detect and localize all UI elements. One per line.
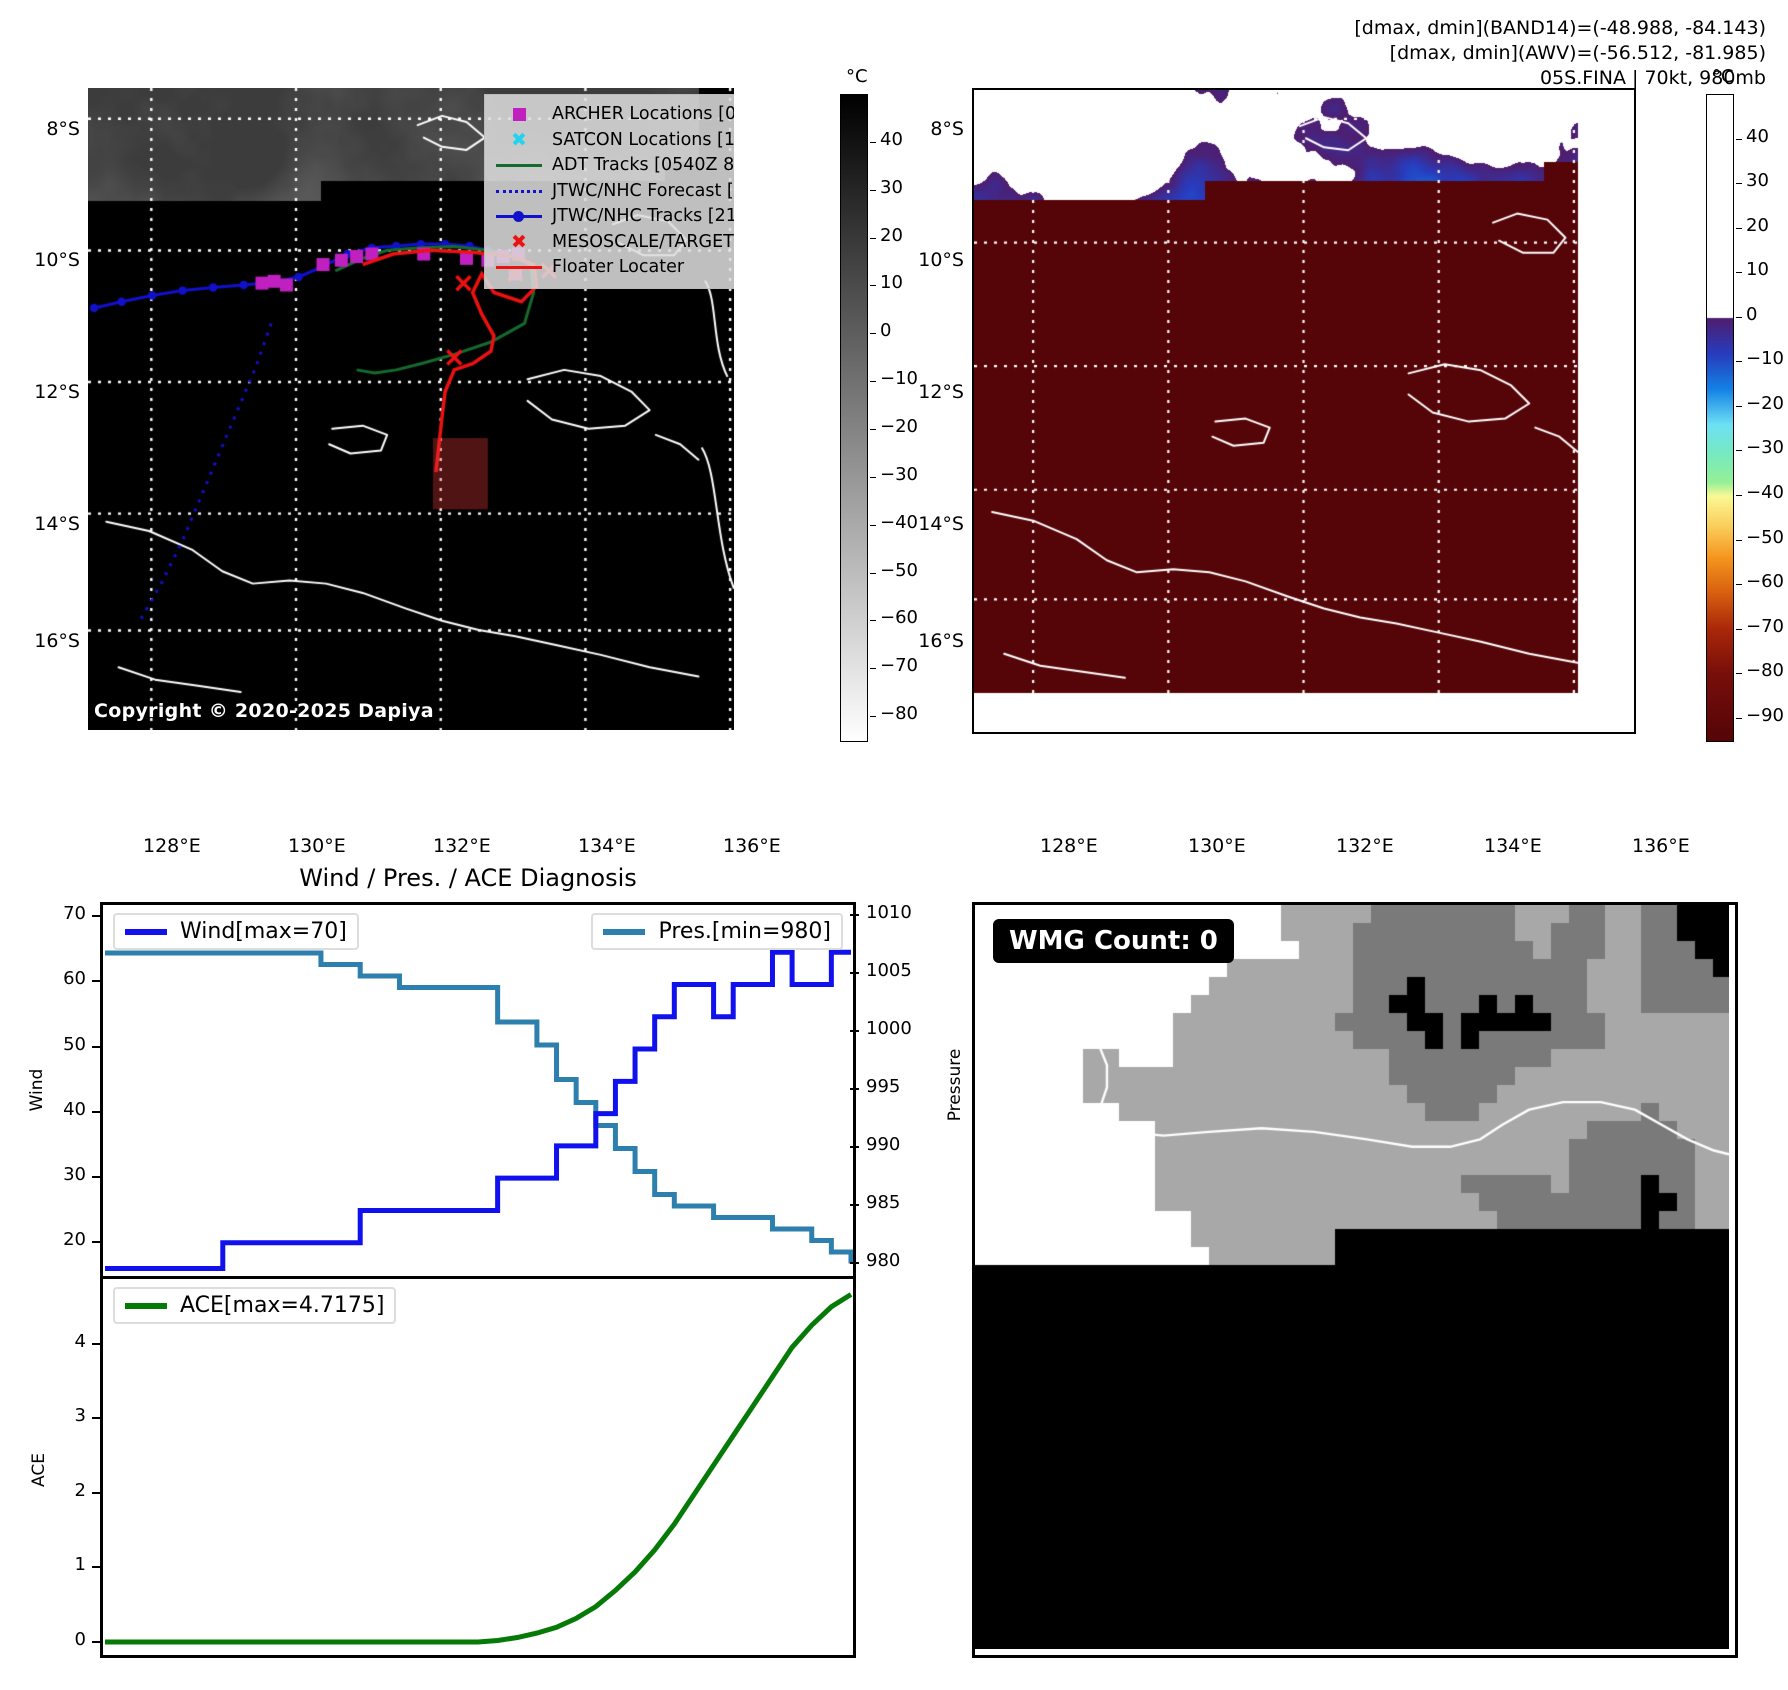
- pressure-tick-label: 985: [866, 1192, 900, 1213]
- ace-tick-mark: [92, 1641, 101, 1643]
- solid-line-icon: [492, 164, 546, 167]
- colorbar-tick-mark: [870, 525, 876, 526]
- legend-label: Floater Locater: [546, 255, 684, 281]
- infrared-grey-map-panel[interactable]: ARCHER Locations [0533Z] ✖ SATCON Locati…: [88, 88, 734, 730]
- wind-tick-label: 20: [52, 1229, 86, 1250]
- ir-lon-label-0: 128°E: [143, 835, 201, 857]
- ace-axis-label: ACE: [29, 1425, 49, 1515]
- enhanced-ir-map-panel[interactable]: [972, 88, 1636, 734]
- pressure-tick-mark: [850, 1262, 859, 1264]
- colorbar-tick-label: −50: [880, 560, 918, 581]
- pressure-tick-mark: [850, 1030, 859, 1032]
- colorbar-tick-mark: [1736, 228, 1742, 229]
- enhanced-ir-map-canvas: [974, 90, 1630, 728]
- colorbar-tick-mark: [1736, 495, 1742, 496]
- color-lat-label-3: 14°S: [892, 513, 964, 535]
- colorbar-tick-label: 20: [880, 225, 903, 246]
- wind-tick-mark: [92, 1241, 101, 1243]
- colorbar-tick-label: −90: [1746, 705, 1784, 726]
- ir-lon-label-2: 132°E: [433, 835, 491, 857]
- wind-series-line: [105, 952, 851, 1268]
- legend-label: MESOSCALE/TARGET Location: [546, 230, 734, 256]
- colorbar-tick-mark: [1736, 317, 1742, 318]
- pressure-tick-mark: [850, 972, 859, 974]
- ir-lon-label-4: 136°E: [723, 835, 781, 857]
- ace-tick-mark: [92, 1343, 101, 1345]
- wind-tick-mark: [92, 1046, 101, 1048]
- colorbar-tick-mark: [870, 333, 876, 334]
- colorbar-tick-mark: [870, 573, 876, 574]
- ace-plot-area: [103, 1279, 853, 1655]
- ir-lat-label-0: 8°S: [8, 118, 80, 140]
- wmg-map-panel[interactable]: WMG Count: 0: [972, 902, 1738, 1658]
- legend-item-mesoscale-target: ✖ MESOSCALE/TARGET Location: [492, 230, 734, 256]
- map-legend: ARCHER Locations [0533Z] ✖ SATCON Locati…: [484, 94, 734, 289]
- legend-item-jtwc-tracks: JTWC/NHC Tracks [21/1200Z]: [492, 204, 734, 230]
- line-with-dot-icon: [492, 215, 546, 218]
- wmg-map-canvas: [975, 905, 1729, 1649]
- dmax-awv-line: [dmax, dmin](AWV)=(-56.512, -81.985): [1354, 41, 1766, 66]
- wind-series-legend[interactable]: Wind[max=70]: [113, 913, 359, 950]
- pressure-tick-label: 990: [866, 1134, 900, 1155]
- colorbar-tick-mark: [1736, 450, 1742, 451]
- ace-series-legend[interactable]: ACE[max=4.7175]: [113, 1287, 396, 1324]
- ir-lat-label-4: 16°S: [8, 630, 80, 652]
- header-stats: [dmax, dmin](BAND14)=(-48.988, -84.143) …: [1354, 16, 1766, 91]
- legend-item-satcon: ✖ SATCON Locations [1700Z 38 1000]: [492, 128, 734, 154]
- legend-item-archer: ARCHER Locations [0533Z]: [492, 102, 734, 128]
- ace-chart[interactable]: ACE[max=4.7175]: [100, 1276, 856, 1658]
- colorbar-tick-label: −30: [1746, 437, 1784, 458]
- colorbar-tick-label: 40: [1746, 126, 1769, 147]
- colorbar-tick-label: −40: [1746, 482, 1784, 503]
- wind-tick-label: 70: [52, 903, 86, 924]
- legend-label: ARCHER Locations [0533Z]: [546, 102, 734, 128]
- wind-tick-label: 60: [52, 968, 86, 989]
- pressure-series-legend[interactable]: Pres.[min=980]: [591, 913, 843, 950]
- colorbar-tick-mark: [1736, 584, 1742, 585]
- colorbar-tick-mark: [1736, 183, 1742, 184]
- colorbar-tick-mark: [870, 477, 876, 478]
- copyright-notice: Copyright © 2020-2025 Dapiya: [94, 700, 434, 722]
- diagnosis-title: Wind / Pres. / ACE Diagnosis: [88, 864, 848, 892]
- wind-tick-mark: [92, 1176, 101, 1178]
- colorbar-tick-mark: [1736, 673, 1742, 674]
- wind-tick-mark: [92, 915, 101, 917]
- wmg-count-badge: WMG Count: 0: [993, 919, 1234, 963]
- pressure-tick-label: 1005: [866, 960, 912, 981]
- colorbar-tick-mark: [1736, 406, 1742, 407]
- wind-axis-label: Wind: [27, 1045, 47, 1135]
- colorbar-tick-label: 20: [1746, 215, 1769, 236]
- colorbar-tick-mark: [870, 381, 876, 382]
- colorbar-tick-mark: [870, 668, 876, 669]
- x-marker-red-icon: ✖: [492, 233, 546, 252]
- colorbar-tick-mark: [870, 429, 876, 430]
- legend-item-floater-locater: Floater Locater: [492, 255, 734, 281]
- colorbar-tick-mark: [1736, 272, 1742, 273]
- wind-pressure-plot-area: [103, 905, 853, 1277]
- colorbar-tick-label: −60: [1746, 571, 1784, 592]
- pressure-tick-label: 1010: [866, 902, 912, 923]
- ace-tick-label: 2: [60, 1480, 86, 1501]
- color-lon-label-3: 134°E: [1484, 835, 1542, 857]
- square-marker-icon: [492, 108, 546, 121]
- legend-item-jtwc-forecast: JTWC/NHC Forecast [21/0600Z]: [492, 179, 734, 205]
- dotted-line-icon: [492, 190, 546, 193]
- wind-legend-label: Wind[max=70]: [180, 919, 347, 944]
- ace-tick-mark: [92, 1566, 101, 1568]
- colorbar-tick-label: 30: [880, 177, 903, 198]
- color-lat-label-2: 12°S: [892, 381, 964, 403]
- wind-tick-label: 30: [52, 1164, 86, 1185]
- colorbar-tick-mark: [870, 190, 876, 191]
- colorbar-tick-mark: [1736, 629, 1742, 630]
- pressure-tick-label: 1000: [866, 1018, 912, 1039]
- pressure-tick-mark: [850, 1088, 859, 1090]
- ir-lon-label-1: 130°E: [288, 835, 346, 857]
- colorbar-tick-label: 10: [880, 272, 903, 293]
- color-lat-label-4: 16°S: [892, 630, 964, 652]
- colorbar-tick-mark: [870, 142, 876, 143]
- colorbar-tick-mark: [1736, 718, 1742, 719]
- colorbar-tick-label: −20: [1746, 393, 1784, 414]
- colorbar-tick-mark: [870, 620, 876, 621]
- pressure-series-line: [105, 953, 851, 1264]
- ace-series-line: [105, 1294, 851, 1642]
- ir-lat-label-3: 14°S: [8, 513, 80, 535]
- pressure-tick-mark: [850, 1146, 859, 1148]
- x-marker-icon: ✖: [492, 131, 546, 150]
- colorbar-tick-mark: [870, 285, 876, 286]
- color-lon-label-1: 130°E: [1188, 835, 1246, 857]
- colorbar-tick-label: 10: [1746, 259, 1769, 280]
- color-lon-label-0: 128°E: [1040, 835, 1098, 857]
- colorbar-tick-mark: [1736, 139, 1742, 140]
- pressure-tick-label: 980: [866, 1250, 900, 1271]
- ace-legend-swatch: [125, 1303, 167, 1309]
- color-lat-label-0: 8°S: [892, 118, 964, 140]
- ace-tick-label: 0: [60, 1629, 86, 1650]
- wind-tick-mark: [92, 980, 101, 982]
- colorbar-tick-mark: [1736, 361, 1742, 362]
- colorbar-tick-label: −20: [880, 416, 918, 437]
- colorbar-tick-label: 30: [1746, 170, 1769, 191]
- wind-tick-label: 40: [52, 1099, 86, 1120]
- legend-label: JTWC/NHC Forecast [21/0600Z]: [546, 179, 734, 205]
- legend-item-adt-tracks: ADT Tracks [0540Z 82.2 975.3]: [492, 153, 734, 179]
- colorbar-tick-label: −70: [880, 655, 918, 676]
- pressure-tick-mark: [850, 1204, 859, 1206]
- ir-colorbar-gradient: [840, 94, 868, 742]
- colorbar-tick-label: −80: [880, 703, 918, 724]
- colorbar-tick-label: 0: [880, 320, 891, 341]
- color-lon-label-2: 132°E: [1336, 835, 1394, 857]
- wind-tick-mark: [92, 1111, 101, 1113]
- pressure-legend-swatch: [603, 929, 645, 935]
- colorbar-tick-label: 0: [1746, 304, 1757, 325]
- pressure-tick-mark: [850, 914, 859, 916]
- ir-lat-label-1: 10°S: [8, 249, 80, 271]
- color-lon-label-4: 136°E: [1632, 835, 1690, 857]
- color-lat-label-1: 10°S: [892, 249, 964, 271]
- ace-tick-label: 4: [60, 1331, 86, 1352]
- wind-pressure-chart[interactable]: Wind[max=70] Pres.[min=980]: [100, 902, 856, 1280]
- colorbar-tick-mark: [1736, 540, 1742, 541]
- ir-lat-label-2: 12°S: [8, 381, 80, 403]
- pressure-axis-label: Pressure: [945, 1030, 965, 1140]
- legend-label: ADT Tracks [0540Z 82.2 975.3]: [546, 153, 734, 179]
- colorbar-tick-label: −80: [1746, 660, 1784, 681]
- legend-label: JTWC/NHC Tracks [21/1200Z]: [546, 204, 734, 230]
- colorbar-tick-label: −30: [880, 464, 918, 485]
- ace-tick-label: 1: [60, 1554, 86, 1575]
- solid-line-red-icon: [492, 266, 546, 269]
- colorbar-tick-label: −10: [1746, 348, 1784, 369]
- legend-label: SATCON Locations [1700Z 38 1000]: [546, 128, 734, 154]
- ace-tick-mark: [92, 1492, 101, 1494]
- dmax-band14-line: [dmax, dmin](BAND14)=(-48.988, -84.143): [1354, 16, 1766, 41]
- wind-legend-swatch: [125, 929, 167, 935]
- ir-lon-label-3: 134°E: [578, 835, 636, 857]
- enhanced-ir-colorbar-unit: °C: [1712, 66, 1734, 87]
- ace-tick-mark: [92, 1417, 101, 1419]
- colorbar-tick-label: −60: [880, 607, 918, 628]
- ir-colorbar-unit: °C: [846, 66, 868, 87]
- colorbar-tick-label: −70: [1746, 616, 1784, 637]
- pressure-tick-label: 995: [866, 1076, 900, 1097]
- enhanced-ir-colorbar-gradient: [1706, 94, 1734, 742]
- ace-tick-label: 3: [60, 1405, 86, 1426]
- colorbar-tick-mark: [870, 238, 876, 239]
- pressure-legend-label: Pres.[min=980]: [658, 919, 831, 944]
- colorbar-tick-label: −50: [1746, 527, 1784, 548]
- wind-tick-label: 50: [52, 1034, 86, 1055]
- ace-legend-label: ACE[max=4.7175]: [180, 1293, 384, 1318]
- colorbar-tick-mark: [870, 716, 876, 717]
